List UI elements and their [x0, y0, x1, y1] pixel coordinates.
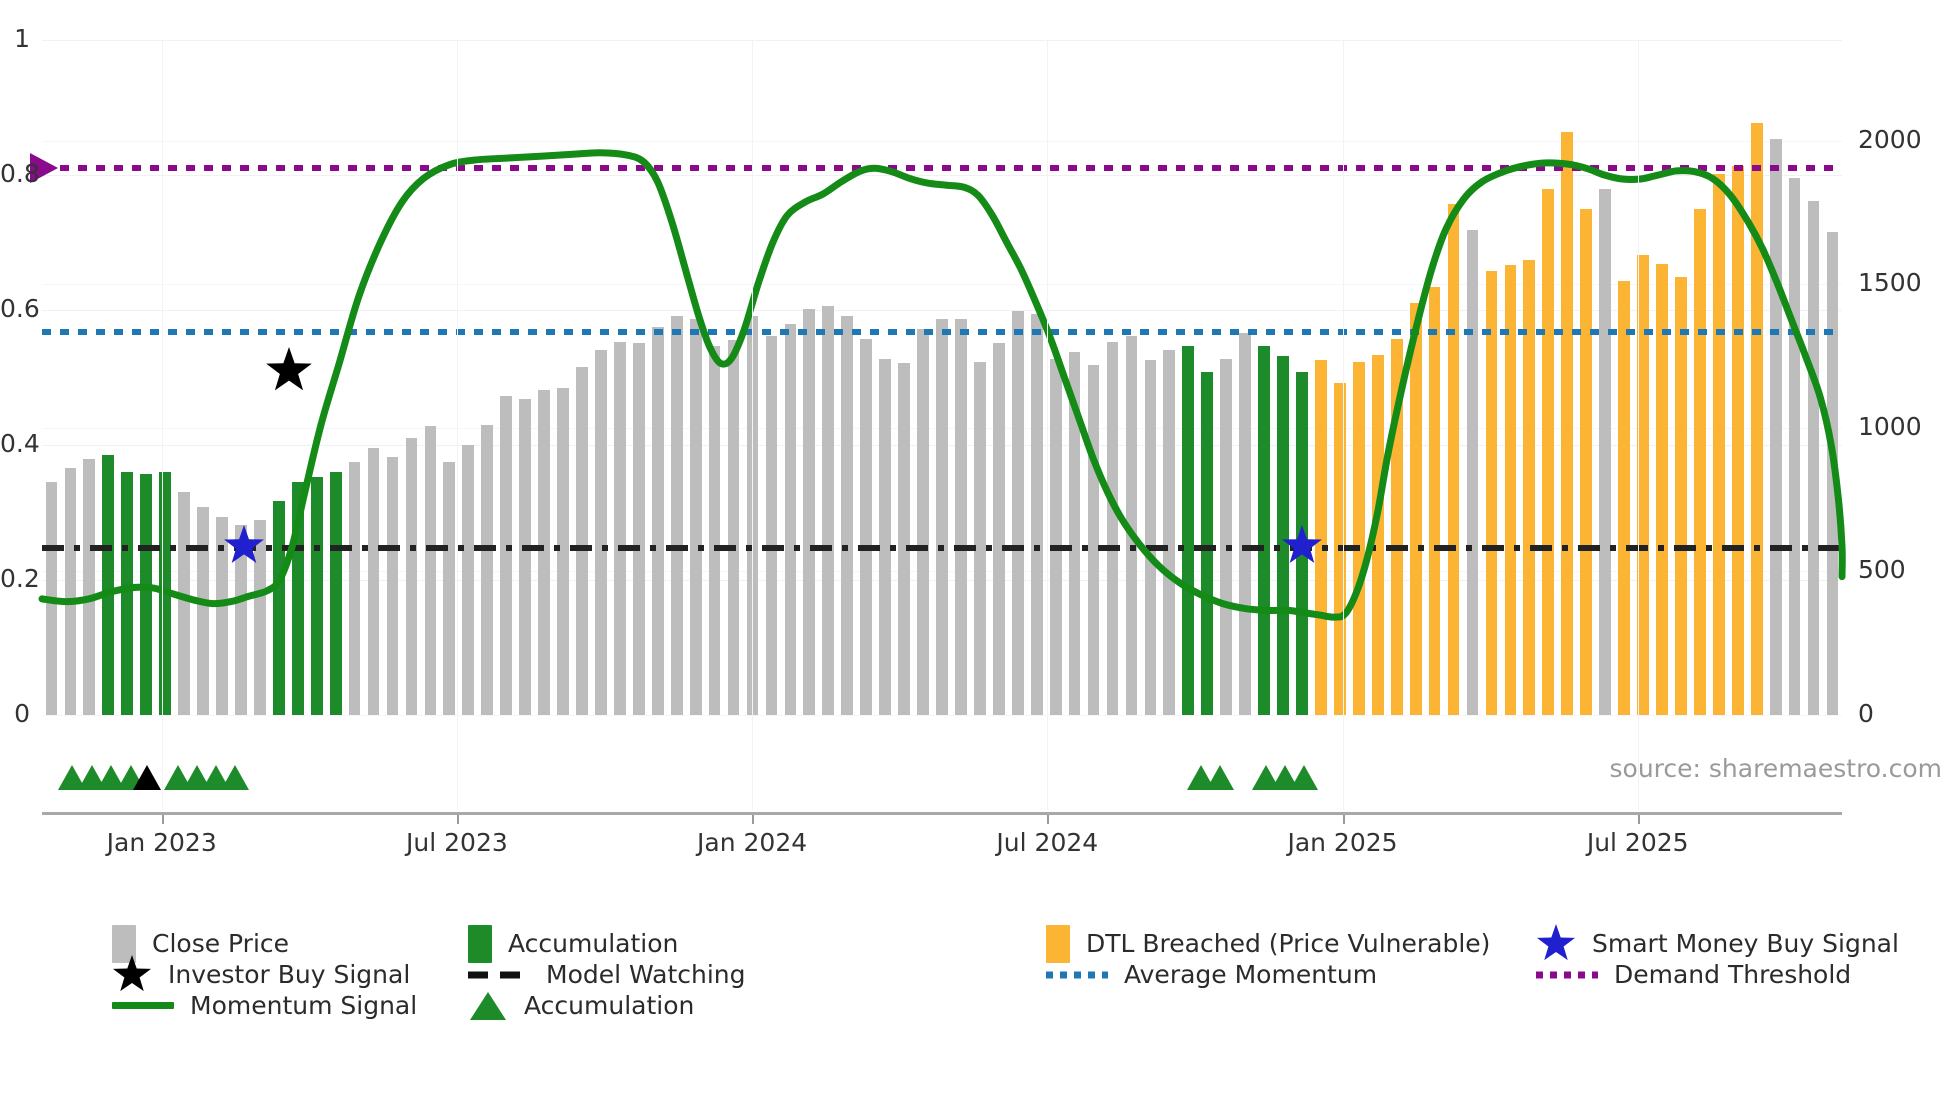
- chart-legend: Close PriceAccumulationDTL Breached (Pri…: [0, 928, 1960, 1021]
- legend-marker-investor-buy-signal: [112, 955, 152, 995]
- legend-marker-dtl-breached: [1046, 925, 1070, 963]
- legend-marker-accumulation-triangle: [468, 989, 508, 1023]
- x-axis-tick: [1343, 815, 1345, 824]
- x-axis-tick-label: Jan 2024: [697, 828, 807, 857]
- chart-root: 10.80.60.40.20 2000150010005000 Jan 2023…: [0, 0, 1960, 1102]
- accumulation-triangle-marker[interactable]: [1290, 765, 1318, 790]
- legend-label-momentum-signal: Momentum Signal: [190, 991, 417, 1020]
- legend-item-momentum-signal[interactable]: Momentum Signal: [112, 990, 417, 1021]
- x-axis-tick: [1047, 815, 1049, 824]
- legend-item-average-momentum[interactable]: Average Momentum: [1046, 959, 1377, 990]
- smart-money-buy-signal-marker[interactable]: [1281, 525, 1323, 567]
- y-axis-right-tick: 500: [1858, 555, 1906, 584]
- legend-marker-momentum-signal: [112, 1002, 174, 1009]
- x-axis-tick-label: Jan 2025: [1287, 828, 1397, 857]
- legend-marker-demand-threshold: [1536, 971, 1598, 979]
- y-axis-right-tick: 2000: [1858, 125, 1922, 154]
- plot-inner: [42, 40, 1842, 715]
- y-axis-left-tick: 0.4: [0, 429, 30, 458]
- x-gridline: [752, 40, 753, 810]
- x-gridline: [1047, 40, 1048, 810]
- x-gridline: [162, 40, 163, 810]
- x-axis-tick-label: Jul 2025: [1587, 828, 1689, 857]
- legend-label-accumulation-bar: Accumulation: [508, 929, 678, 958]
- x-axis-tick: [457, 815, 459, 824]
- x-axis-line: [42, 812, 1842, 815]
- y-axis-right-tick: 1000: [1858, 412, 1922, 441]
- y-axis-left-tick: 0.2: [0, 564, 30, 593]
- x-axis-tick: [1638, 815, 1640, 824]
- legend-item-dtl-breached[interactable]: DTL Breached (Price Vulnerable): [1046, 928, 1490, 959]
- legend-label-investor-buy-signal: Investor Buy Signal: [168, 960, 410, 989]
- y-axis-left-tick: 0.8: [0, 159, 30, 188]
- plot-area: [42, 40, 1842, 715]
- x-axis-tick-label: Jul 2024: [996, 828, 1098, 857]
- legend-item-model-watching[interactable]: Model Watching: [468, 959, 746, 990]
- smart-money-buy-signal-marker[interactable]: [223, 525, 265, 567]
- legend-row-3: Momentum SignalAccumulation: [0, 990, 1960, 1021]
- legend-marker-model-watching: [468, 971, 530, 979]
- legend-item-investor-buy-signal[interactable]: Investor Buy Signal: [112, 959, 410, 990]
- x-gridline: [1343, 40, 1344, 810]
- accumulation-triangle-marker[interactable]: [221, 765, 249, 790]
- source-note: source: sharemaestro.com: [1610, 754, 1943, 783]
- legend-item-accumulation-bar[interactable]: Accumulation: [468, 928, 678, 959]
- legend-item-smart-money-buy-signal[interactable]: Smart Money Buy Signal: [1536, 928, 1899, 959]
- x-axis-tick-label: Jul 2023: [406, 828, 508, 857]
- y-axis-right-tick: 1500: [1858, 268, 1922, 297]
- accumulation-triangle-marker[interactable]: [1206, 765, 1234, 790]
- x-axis-tick: [752, 815, 754, 824]
- y-axis-left-tick: 0: [0, 699, 30, 728]
- gridline-right: [42, 715, 1842, 716]
- legend-label-demand-threshold: Demand Threshold: [1614, 960, 1851, 989]
- x-axis-tick: [162, 815, 164, 824]
- legend-item-demand-threshold[interactable]: Demand Threshold: [1536, 959, 1851, 990]
- legend-label-accumulation-triangle: Accumulation: [524, 991, 694, 1020]
- legend-marker-accumulation-bar: [468, 925, 492, 963]
- y-axis-left-tick: 1: [0, 24, 30, 53]
- investor-buy-signal-marker[interactable]: [265, 347, 313, 395]
- x-gridline: [1638, 40, 1639, 810]
- legend-label-average-momentum: Average Momentum: [1124, 960, 1377, 989]
- y-axis-left-tick: 0.6: [0, 294, 30, 323]
- legend-row-2: Investor Buy SignalModel WatchingAverage…: [0, 959, 1960, 990]
- legend-marker-smart-money-buy-signal: [1536, 924, 1576, 964]
- y-axis-right-tick: 0: [1858, 699, 1874, 728]
- x-gridline: [457, 40, 458, 810]
- x-axis-tick-label: Jan 2023: [107, 828, 217, 857]
- legend-label-close-price: Close Price: [152, 929, 289, 958]
- legend-marker-average-momentum: [1046, 971, 1108, 979]
- investor-buy-triangle-marker[interactable]: [133, 765, 161, 790]
- legend-label-smart-money-buy-signal: Smart Money Buy Signal: [1592, 929, 1899, 958]
- legend-label-dtl-breached: DTL Breached (Price Vulnerable): [1086, 929, 1490, 958]
- legend-label-model-watching: Model Watching: [546, 960, 746, 989]
- legend-item-accumulation-triangle[interactable]: Accumulation: [468, 990, 694, 1021]
- legend-row-1: Close PriceAccumulationDTL Breached (Pri…: [0, 928, 1960, 959]
